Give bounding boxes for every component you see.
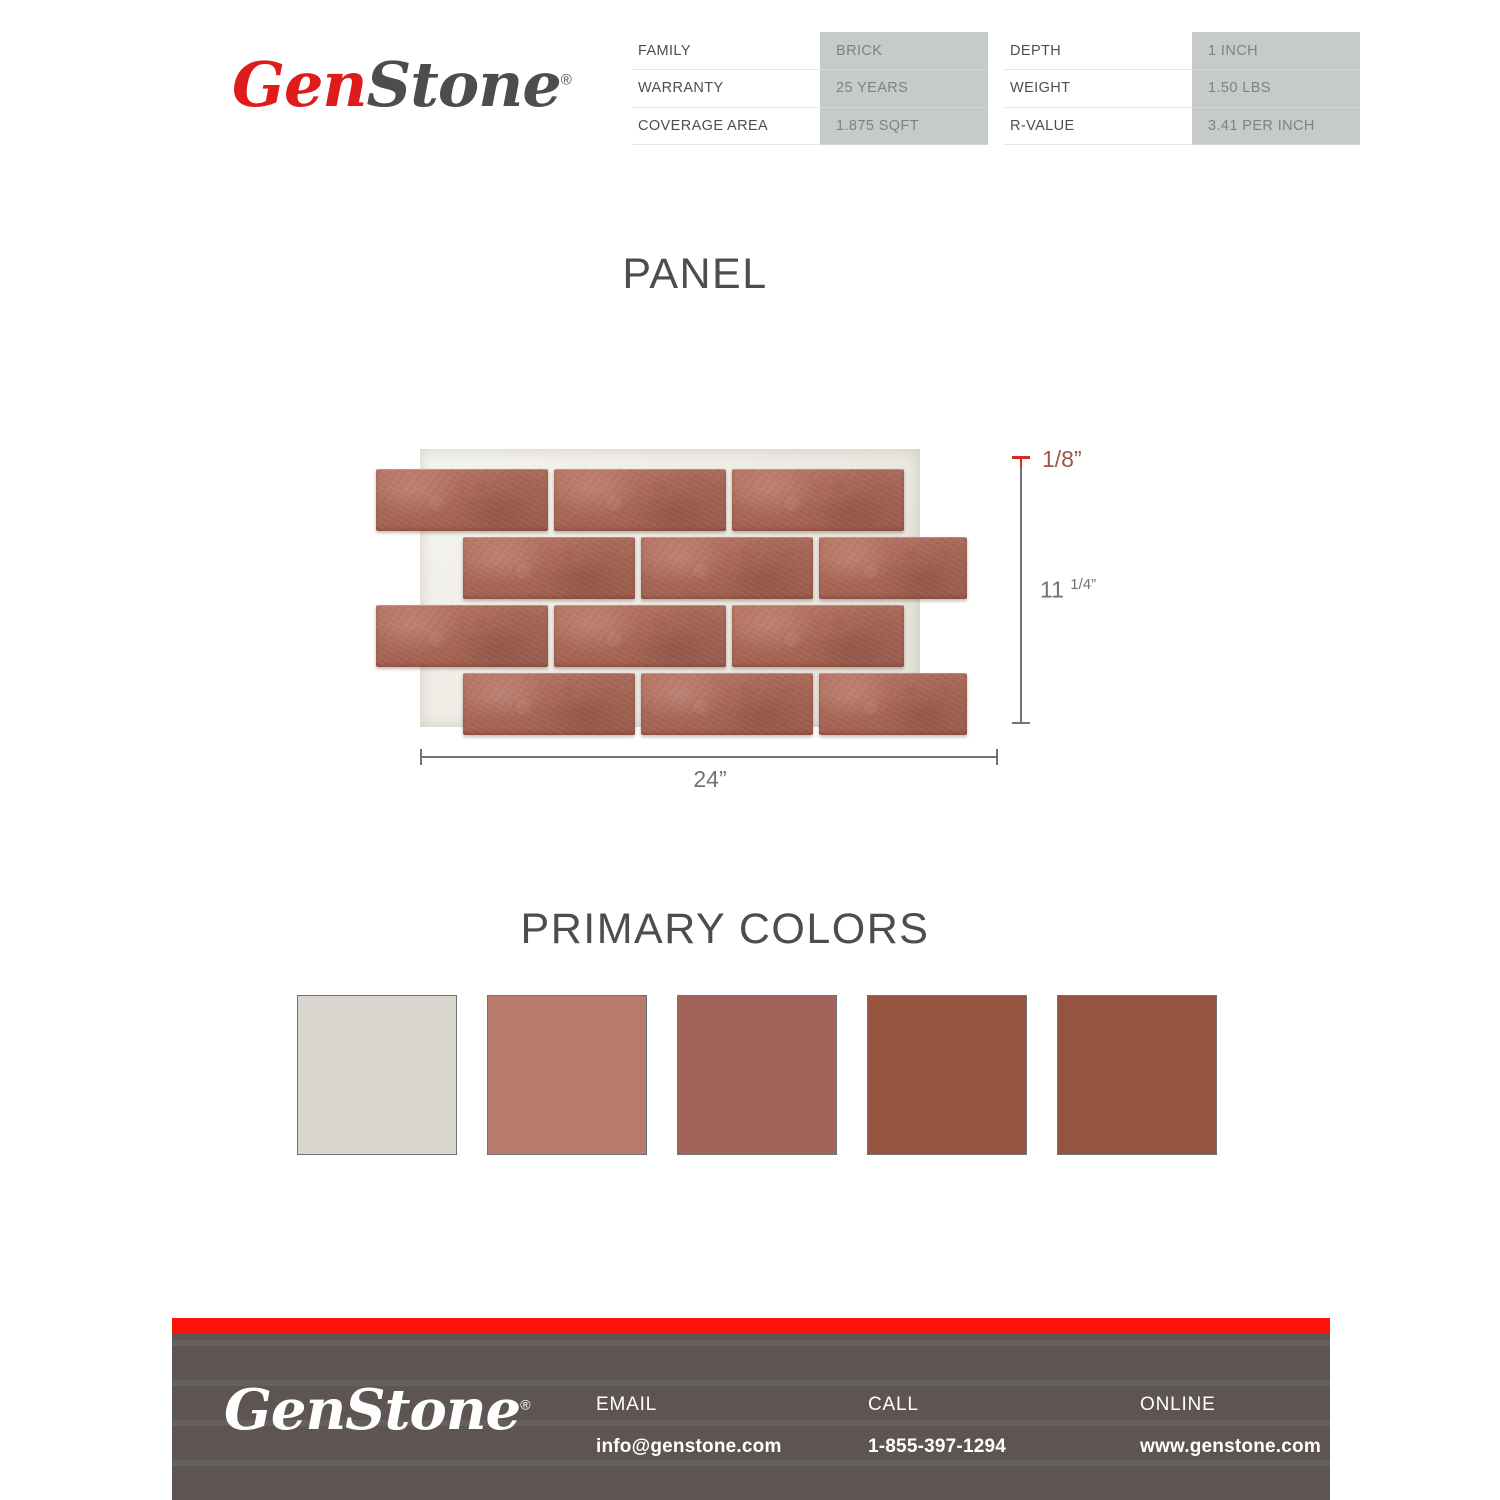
spec-table-right: DEPTH 1 INCH WEIGHT 1.50 LBS R-VALUE 3.4… [1004,32,1360,145]
dimension-label-thickness: 1/8” [1042,446,1082,473]
footer-genstone-logo: GenStone® [224,1382,514,1438]
spec-value-weight: 1.50 LBS [1192,70,1360,108]
brick-tile [554,469,726,531]
spec-label-coverage-area: COVERAGE AREA [632,107,820,145]
table-row: DEPTH 1 INCH [1004,32,1360,70]
color-swatch-list [297,995,1217,1155]
spec-table-left: FAMILY BRICK WARRANTY 25 YEARS COVERAGE … [632,32,988,145]
page-title-primary-colors: PRIMARY COLORS [0,905,1450,954]
genstone-logo: GenStone® [232,54,532,140]
width-dimension-left-tick [420,749,422,765]
spec-label-r-value: R-VALUE [1004,107,1192,145]
footer-column-online: ONLINE www.genstone.com [1140,1394,1330,1458]
table-row: WARRANTY 25 YEARS [632,70,988,108]
color-swatch-medium-brick[interactable] [677,995,837,1155]
footer-registered-trademark-icon: ® [520,1396,529,1412]
spec-label-weight: WEIGHT [1004,70,1192,108]
brick-tile [463,673,635,735]
width-dimension-right-tick [996,749,998,765]
footer-logo-text-stone: Stone [345,1377,520,1443]
spec-value-family: BRICK [820,32,988,70]
footer-logo-text-gen: Gen [224,1377,345,1443]
footer-value-phone[interactable]: 1-855-397-1294 [868,1436,1140,1458]
brick-tile [641,673,813,735]
table-row: COVERAGE AREA 1.875 SQFT [632,107,988,145]
spec-value-depth: 1 INCH [1192,32,1360,70]
brick-tile [376,469,548,531]
page-title-panel: PANEL [0,250,1390,299]
footer-value-email[interactable]: info@genstone.com [596,1436,868,1458]
footer-label-email: EMAIL [596,1394,868,1416]
logo-text-gen: Gen [232,48,366,121]
height-dimension-end-tick [1012,722,1030,724]
brick-tile [732,605,904,667]
spec-label-depth: DEPTH [1004,32,1192,70]
color-swatch-light-terracotta[interactable] [487,995,647,1155]
brick-tile [819,673,967,735]
panel-product-image [368,447,968,732]
table-row: FAMILY BRICK [632,32,988,70]
footer-accent-bar [172,1318,1330,1334]
spec-label-family: FAMILY [632,32,820,70]
spec-value-warranty: 25 YEARS [820,70,988,108]
header: GenStone® FAMILY BRICK WARRANTY 25 YEARS… [0,0,1500,180]
footer-brick-background: GenStone® EMAIL info@genstone.com CALL 1… [172,1334,1330,1500]
brick-tile [732,469,904,531]
dimension-label-height: 11 1/4” [1040,576,1096,604]
thickness-tick-stem-icon [1020,456,1022,467]
table-row: R-VALUE 3.41 PER INCH [1004,107,1360,145]
color-swatch-mortar-white[interactable] [297,995,457,1155]
footer-value-website[interactable]: www.genstone.com [1140,1436,1330,1458]
spec-value-r-value: 3.41 PER INCH [1192,107,1360,145]
brick-tile [463,537,635,599]
footer-column-email: EMAIL info@genstone.com [596,1394,868,1458]
spec-label-warranty: WARRANTY [632,70,820,108]
dimension-label-width: 24” [0,766,1420,793]
height-dimension-line [1020,458,1022,723]
width-dimension-line [420,756,998,758]
footer-label-call: CALL [868,1394,1140,1416]
color-swatch-deep-brick[interactable] [1057,995,1217,1155]
logo-text-stone: Stone [366,48,560,121]
brick-tile [554,605,726,667]
brick-tile [819,537,967,599]
color-swatch-dark-brick[interactable] [867,995,1027,1155]
product-spec-sheet: GenStone® FAMILY BRICK WARRANTY 25 YEARS… [0,0,1500,1500]
footer: GenStone® EMAIL info@genstone.com CALL 1… [172,1318,1330,1500]
spec-tables: FAMILY BRICK WARRANTY 25 YEARS COVERAGE … [632,32,1360,145]
registered-trademark-icon: ® [561,71,571,88]
brick-tile [641,537,813,599]
spec-value-coverage-area: 1.875 SQFT [820,107,988,145]
footer-label-online: ONLINE [1140,1394,1330,1416]
table-row: WEIGHT 1.50 LBS [1004,70,1360,108]
brick-tile [376,605,548,667]
footer-contact-columns: EMAIL info@genstone.com CALL 1-855-397-1… [596,1394,1330,1458]
footer-column-call: CALL 1-855-397-1294 [868,1394,1140,1458]
